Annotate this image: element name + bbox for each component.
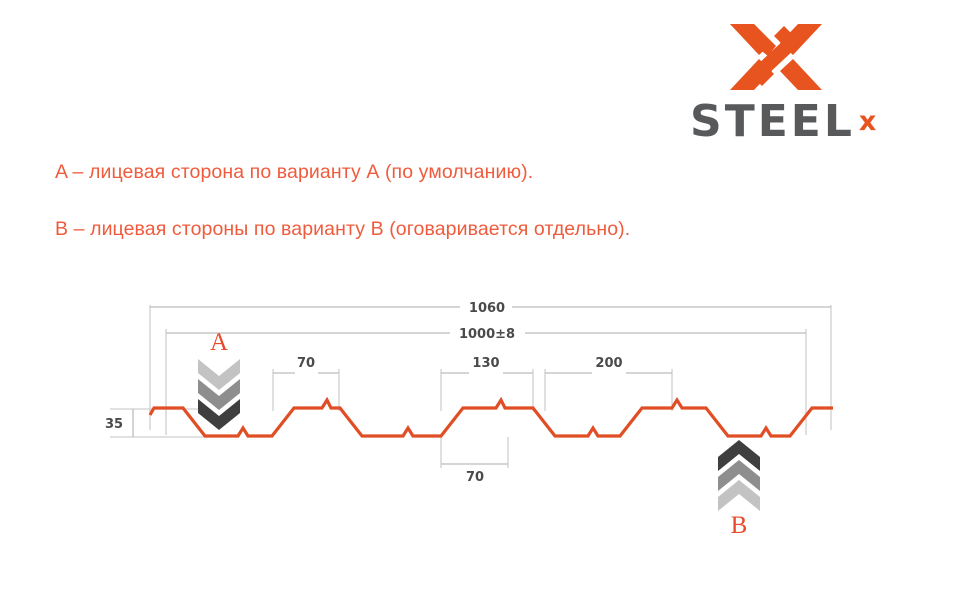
brand-word-steel: STEEL [690,100,855,144]
brand-logo: STEEL x [690,18,920,143]
dimension-trough-flat-width-label: 70 [466,470,484,485]
marker-a: A [198,329,240,430]
dimension-module-pitch: 200 [545,356,672,373]
dimension-trough-pitch: 130 [441,356,533,373]
dimension-crest-width: 70 [273,356,339,373]
steelx-x-mark-icon [728,18,824,96]
legend-line-a: A – лицевая сторона по варианту А (по ум… [55,161,533,184]
dimension-crest-width-label: 70 [297,356,315,371]
legend-line-b: B – лицевая стороны по варианту B (огова… [55,218,630,241]
page-root: STEEL x A – лицевая сторона по варианту … [0,0,970,597]
marker-b-label: B [731,512,748,539]
profile-section-line [150,400,833,436]
brand-word-superscript: x [859,108,876,135]
dimension-profile-height-label: 35 [105,417,123,432]
dimension-working-width: 1000±8 [166,327,806,342]
chevron-up-icon [718,440,760,511]
dimension-trough-pitch-label: 130 [472,356,499,371]
marker-a-label: A [210,329,228,356]
chevron-down-icon [198,359,240,430]
dimension-module-pitch-label: 200 [595,356,622,371]
dimension-profile-height: 35 [105,409,133,437]
marker-b: B [718,440,760,539]
dimension-overall-width-label: 1060 [469,301,505,316]
dimension-trough-flat-width: 70 [441,464,508,485]
dimension-overall-width: 1060 [150,301,831,316]
dimension-working-width-label: 1000±8 [459,327,515,342]
profile-technical-drawing: 1060 1000±8 70 130 [0,285,970,555]
brand-wordmark: STEEL x [690,102,920,144]
